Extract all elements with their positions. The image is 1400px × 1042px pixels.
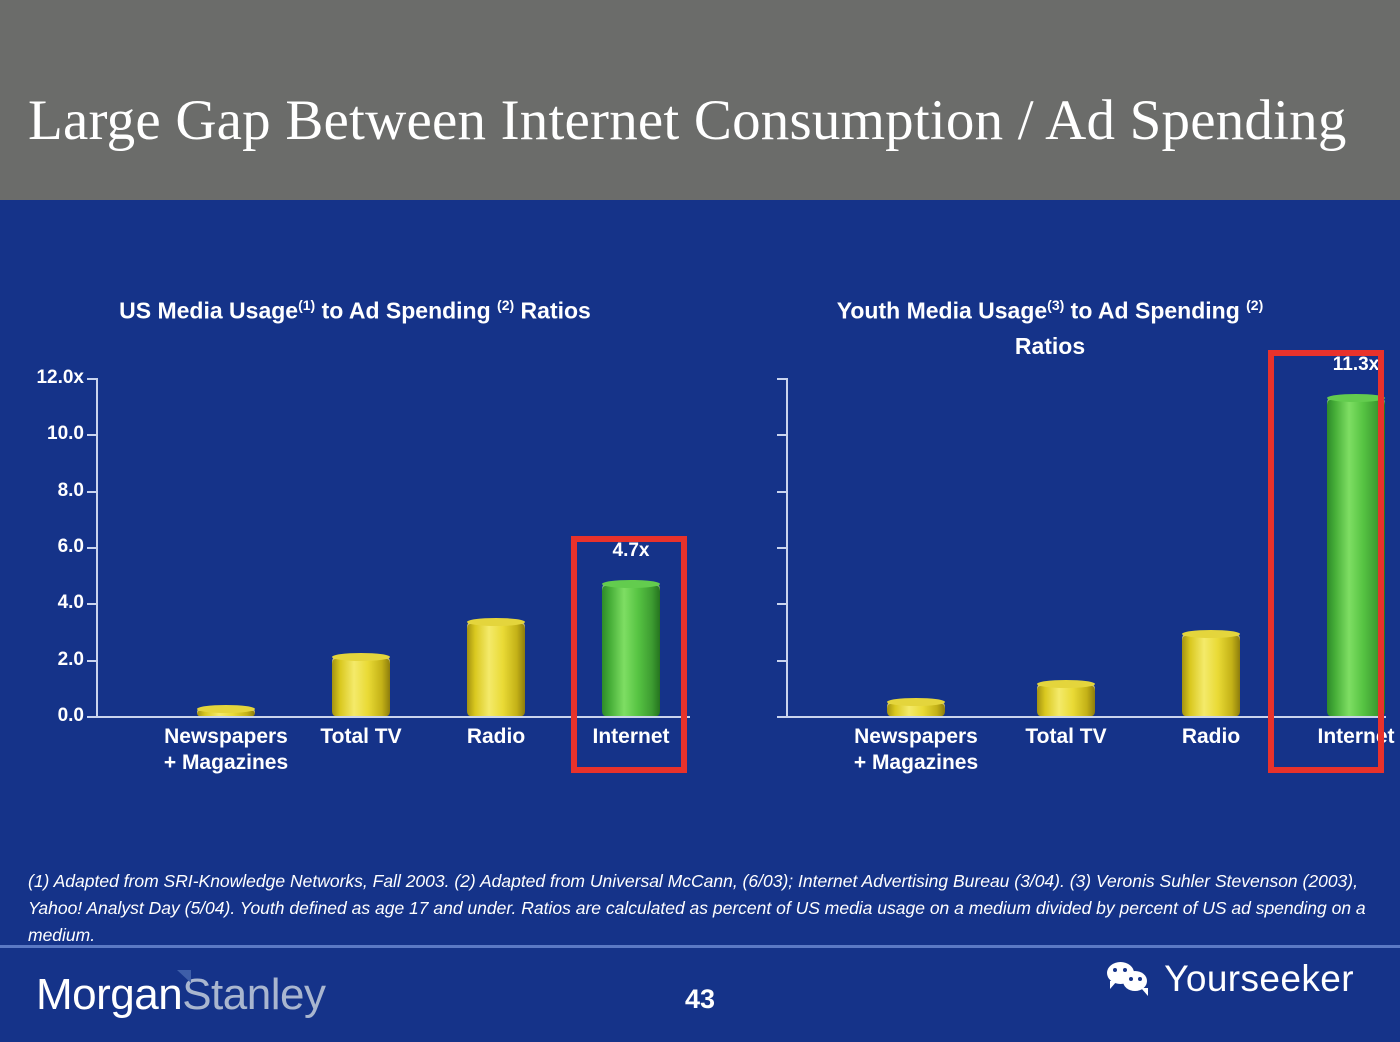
x-axis-label: Total TV [320,724,401,750]
morgan-stanley-triangle-icon [177,970,191,983]
y-tick-label: 12.0x [36,367,84,389]
y-tick [777,434,786,436]
chart-title-youth-sup1: (3) [1047,297,1064,313]
x-axis-label: Newspapers+ Magazines [854,724,978,776]
x-axis-label: Radio [467,724,525,750]
y-tick-label: 4.0 [58,592,84,614]
slide-footer: MorganStanley 43 Yourseeker [0,948,1400,1042]
y-tick-label: 8.0 [58,480,84,502]
chart-title-youth-mid: to Ad Spending [1064,298,1246,324]
y-tick [777,491,786,493]
wechat-icon [1107,962,1153,996]
chart-title-youth-main: Youth Media Usage [837,298,1047,324]
x-axis-label: Radio [1182,724,1240,750]
bar-radio [467,622,525,716]
chart-title-us-tail: Ratios [514,298,591,324]
bar-newspapers-magazines [887,702,945,716]
chart-title-us-mid: to Ad Spending [315,298,497,324]
x-axis-label: Total TV [1025,724,1106,750]
brand-name: Yourseeker [1164,958,1354,1000]
chart-title-youth-line2: Ratios [1015,333,1085,359]
y-tick-label: 0.0 [58,705,84,727]
chart-title-us: US Media Usage(1) to Ad Spending (2) Rat… [0,288,710,329]
y-tick-label: 6.0 [58,536,84,558]
chart-title-youth-sup2: (2) [1246,297,1263,313]
chart-title-us-sup2: (2) [497,297,514,313]
y-tick-label: 2.0 [58,649,84,671]
bar-slot [1037,378,1095,716]
y-tick [777,378,786,380]
y-tick [777,716,786,718]
x-axis-label: Newspapers+ Magazines [164,724,288,776]
y-axis-labels-us: 0.02.04.06.08.010.012.0x [10,378,84,716]
bar-slot [887,378,945,716]
y-tick [777,660,786,662]
y-tick [87,603,96,605]
bar-slot [197,378,255,716]
y-tick-label: 10.0 [47,423,84,445]
bar-newspapers-magazines [197,709,255,716]
bar-total-tv [332,657,390,716]
y-axis-line-us [96,378,98,716]
y-tick [87,716,96,718]
bar-slot [1182,378,1240,716]
y-tick [87,491,96,493]
y-tick [777,547,786,549]
chart-title-us-sup1: (1) [298,297,315,313]
bar-slot [467,378,525,716]
y-axis-line-youth [786,378,788,716]
bar-total-tv [1037,684,1095,716]
slide-body: US Media Usage(1) to Ad Spending (2) Rat… [0,200,1400,1042]
y-tick [87,547,96,549]
y-tick [87,660,96,662]
brand-watermark: Yourseeker [1107,958,1354,1000]
bar-radio [1182,634,1240,716]
footnote-text: (1) Adapted from SRI-Knowledge Networks,… [28,868,1373,949]
highlight-box-internet [571,536,687,773]
page-title: Large Gap Between Internet Consumption /… [28,88,1347,153]
y-tick [87,378,96,380]
chart-title-us-main: US Media Usage [119,298,298,324]
bar-slot [332,378,390,716]
y-tick [87,434,96,436]
slide-header: Large Gap Between Internet Consumption /… [0,0,1400,200]
highlight-box-internet [1268,350,1384,773]
y-tick [777,603,786,605]
